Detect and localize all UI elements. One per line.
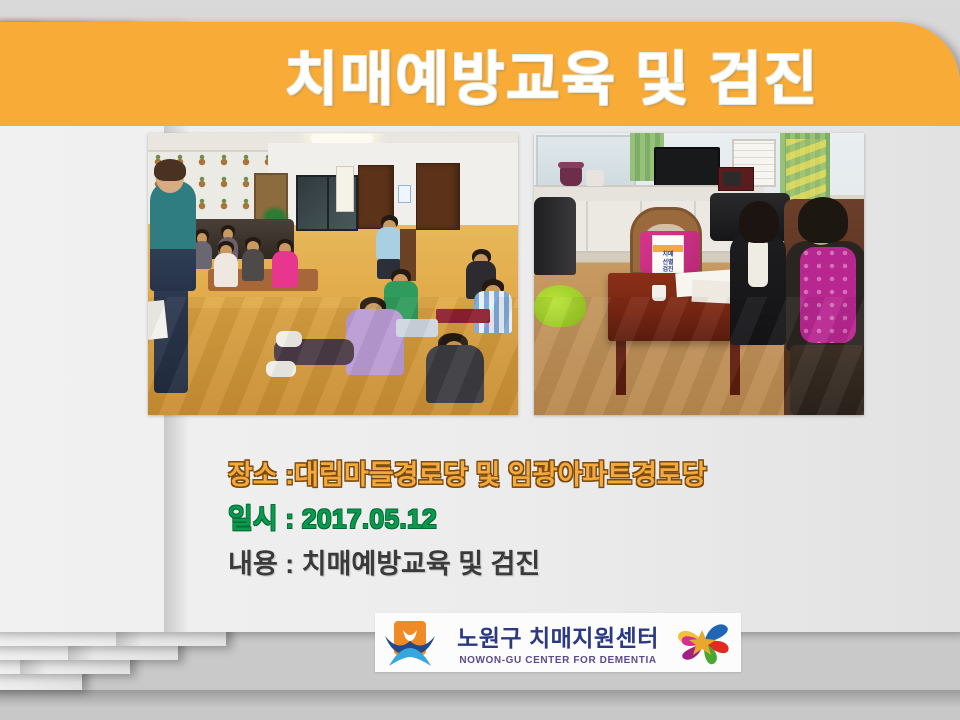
television xyxy=(654,147,720,189)
logo-korean-name: 노원구 치매지원센터 xyxy=(457,619,659,653)
page-title: 치매예방교육 및 검진 xyxy=(285,32,819,116)
ceiling-light-icon xyxy=(311,134,373,143)
panel-drop-shadow xyxy=(0,690,960,708)
nowon-dementia-center-mark-icon xyxy=(383,618,437,668)
wall-poster xyxy=(336,166,354,212)
participant-figure xyxy=(376,215,402,277)
photo-screening-session: 치매 선별 검진 xyxy=(534,133,864,415)
instructor-hair xyxy=(154,159,186,181)
blue-cushion xyxy=(396,319,438,337)
sign-line-1: 치매 xyxy=(662,252,673,260)
photo-gallery: 치매 선별 검진 xyxy=(148,133,864,415)
slide-title-bar: 치매예방교육 및 검진 xyxy=(164,22,940,126)
microwave-oven xyxy=(718,167,754,191)
client-patterned-top xyxy=(800,247,856,343)
senior-client-figure xyxy=(782,195,864,415)
presentation-slide: 치매예방교육 및 검진 xyxy=(0,0,960,720)
caption-block: 장소 :대림마들경로당 및 임광아파트경로당 일시 : 2017.05.12 내… xyxy=(228,462,888,578)
participant-figure xyxy=(242,237,264,281)
table-leg xyxy=(730,341,740,395)
wood-door-b xyxy=(416,163,460,230)
participant-figure xyxy=(214,241,238,287)
organization-logo: 노원구 치매지원센터 NOWON-GU CENTER FOR DEMENTIA xyxy=(375,613,741,672)
staff-shirt xyxy=(748,239,768,287)
nowon-gu-pinwheel-emblem-icon xyxy=(675,618,733,668)
rice-cooker xyxy=(560,166,582,186)
black-armchair xyxy=(534,197,576,275)
photo-education-session xyxy=(148,133,518,415)
sock-foot xyxy=(276,331,302,347)
participant-figure xyxy=(272,239,298,287)
caption-content: 내용 : 치매예방교육 및 검진 xyxy=(228,551,888,578)
instructor-body xyxy=(150,181,196,291)
caption-place: 장소 :대림마들경로당 및 임광아파트경로당 xyxy=(228,462,888,489)
client-legs xyxy=(790,345,864,415)
client-hair xyxy=(798,197,848,243)
sock-foot xyxy=(266,361,296,377)
green-knit-cushion xyxy=(534,285,586,327)
logo-english-name: NOWON-GU CENTER FOR DEMENTIA xyxy=(459,655,656,666)
staff-figure xyxy=(730,195,786,345)
caption-date: 일시 : 2017.05.12 xyxy=(228,506,888,533)
logo-text-block: 노원구 치매지원센터 NOWON-GU CENTER FOR DEMENTIA xyxy=(437,619,675,666)
kitchen-appliance xyxy=(586,170,604,186)
staff-hair xyxy=(739,201,779,243)
paper-cup xyxy=(652,285,666,301)
red-mat xyxy=(436,309,490,323)
participant-figure xyxy=(426,333,484,415)
door-notice-sign xyxy=(398,185,411,203)
participant-figure xyxy=(346,297,404,387)
table-leg xyxy=(616,341,626,395)
